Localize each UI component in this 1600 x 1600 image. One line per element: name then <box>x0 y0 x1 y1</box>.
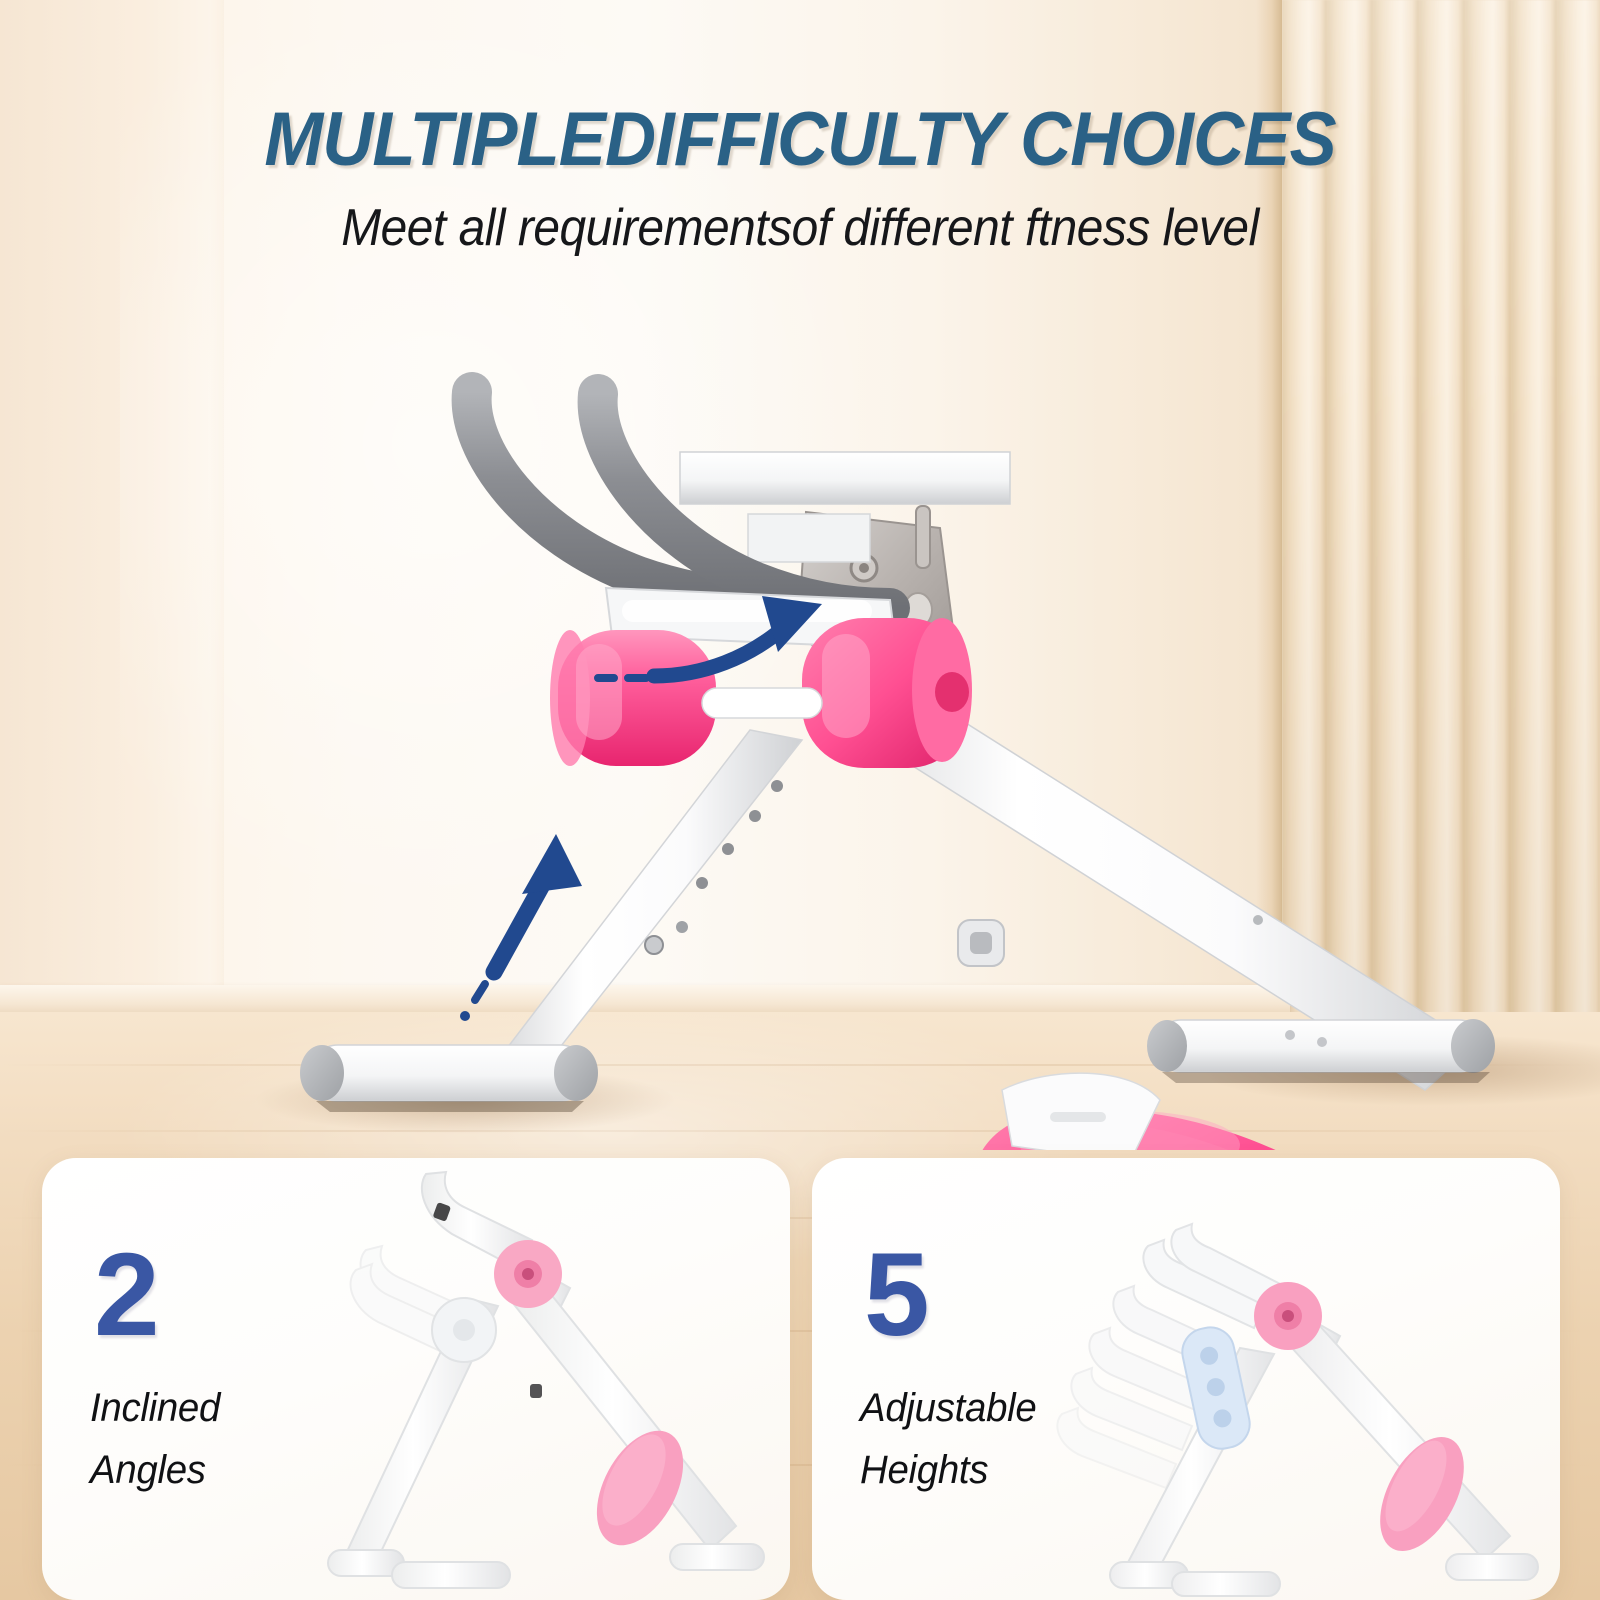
feature-number: 5 <box>864 1236 930 1354</box>
product-hero-image <box>250 300 1600 1150</box>
pad-axle <box>702 688 822 718</box>
beam-lock-clip <box>958 920 1004 966</box>
product-marketing-image: MULTIPLEDIFFICULTY CHOICES Meet all requ… <box>0 0 1600 1600</box>
page-subtitle: Meet all requirementsof different ftness… <box>64 198 1536 258</box>
front-foot-bar <box>300 1045 598 1112</box>
feature-number: 2 <box>94 1236 160 1354</box>
feature-label-line1: Inclined <box>90 1386 220 1431</box>
rear-foot-bar <box>1147 1019 1495 1083</box>
card-art-inclined-angles <box>270 1158 790 1600</box>
front-leg-assembly <box>300 730 802 1112</box>
card-art-adjustable-heights <box>1040 1158 1560 1600</box>
feature-card-adjustable-heights[interactable]: 5 Adjustable Heights <box>812 1158 1560 1600</box>
seat-housing <box>1002 1073 1160 1150</box>
feature-label-line2: Heights <box>860 1448 988 1493</box>
feature-card-inclined-angles[interactable]: 2 Inclined Angles <box>42 1158 790 1600</box>
feature-cards: 2 Inclined Angles <box>0 1158 1600 1600</box>
feature-label-line1: Adjustable <box>860 1386 1036 1431</box>
shoulder-pad-left <box>550 630 716 766</box>
shoulder-pad-right <box>802 618 972 768</box>
page-title: MULTIPLEDIFFICULTY CHOICES <box>56 96 1544 183</box>
upper-frame-tube <box>680 452 1010 562</box>
feature-label-line2: Angles <box>90 1448 206 1493</box>
